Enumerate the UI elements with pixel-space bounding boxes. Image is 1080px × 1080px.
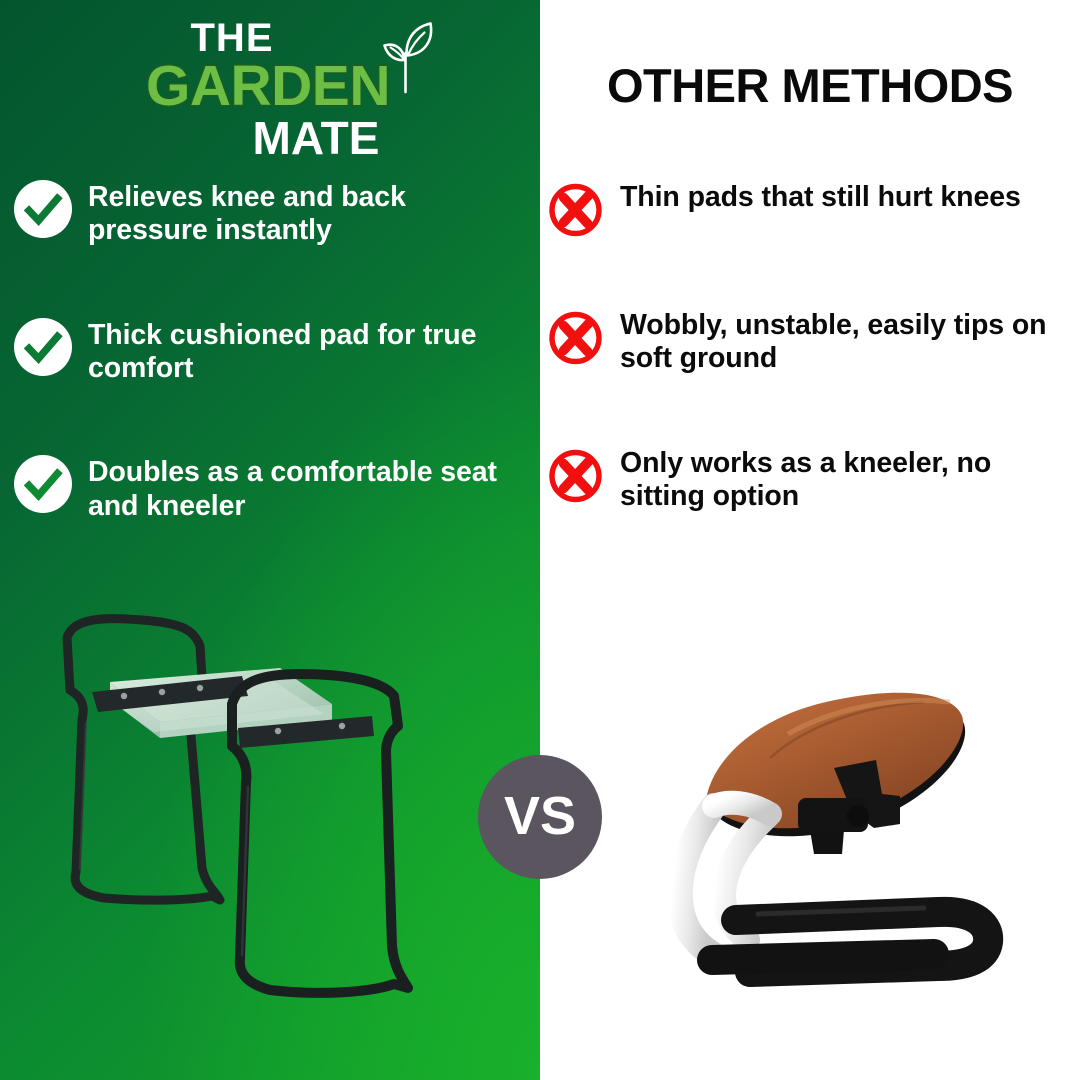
pros-item-text: Doubles as a comfortable seat and kneele… bbox=[88, 451, 514, 523]
cons-item-text: Only works as a kneeler, no sitting opti… bbox=[620, 442, 1058, 514]
check-circle-icon bbox=[14, 180, 72, 238]
pros-list-item: Doubles as a comfortable seat and kneele… bbox=[14, 451, 514, 523]
garden-kneeler-bench-image bbox=[42, 600, 442, 1020]
cross-circle-icon bbox=[548, 308, 606, 366]
pros-item-text: Relieves knee and back pressure instantl… bbox=[88, 176, 514, 248]
logo-line-mate: MATE bbox=[0, 115, 540, 163]
pros-item-text: Thick cushioned pad for true comfort bbox=[88, 314, 514, 386]
comparison-infographic: THE GARDEN MATE OTHER METHODS Relieves k… bbox=[0, 0, 1080, 1080]
cons-list-item: Wobbly, unstable, easily tips on soft gr… bbox=[548, 304, 1058, 376]
cons-item-text: Wobbly, unstable, easily tips on soft gr… bbox=[620, 304, 1058, 376]
cross-circle-icon bbox=[548, 180, 606, 238]
vs-badge: VS bbox=[478, 755, 602, 879]
cross-circle-icon bbox=[548, 446, 606, 504]
brand-logo: THE GARDEN MATE bbox=[0, 18, 540, 163]
pros-list: Relieves knee and back pressure instantl… bbox=[14, 176, 514, 589]
check-circle-icon bbox=[14, 318, 72, 376]
check-circle-icon bbox=[14, 455, 72, 513]
cons-item-text: Thin pads that still hurt knees bbox=[620, 176, 1021, 214]
pros-list-item: Relieves knee and back pressure instantl… bbox=[14, 176, 514, 248]
vs-label: VS bbox=[504, 789, 576, 843]
logo-line-the: THE bbox=[0, 18, 540, 60]
cons-list-item: Thin pads that still hurt knees bbox=[548, 176, 1058, 238]
leaf-sprout-icon bbox=[372, 20, 442, 94]
logo-line-garden: GARDEN bbox=[0, 58, 540, 116]
cons-list-item: Only works as a kneeler, no sitting opti… bbox=[548, 442, 1058, 514]
cons-list: Thin pads that still hurt knees Wobbly, … bbox=[548, 176, 1058, 579]
pros-list-item: Thick cushioned pad for true comfort bbox=[14, 314, 514, 386]
brown-pad-kneeler-stool-image bbox=[638, 648, 1042, 1030]
other-methods-title: OTHER METHODS bbox=[540, 58, 1080, 113]
